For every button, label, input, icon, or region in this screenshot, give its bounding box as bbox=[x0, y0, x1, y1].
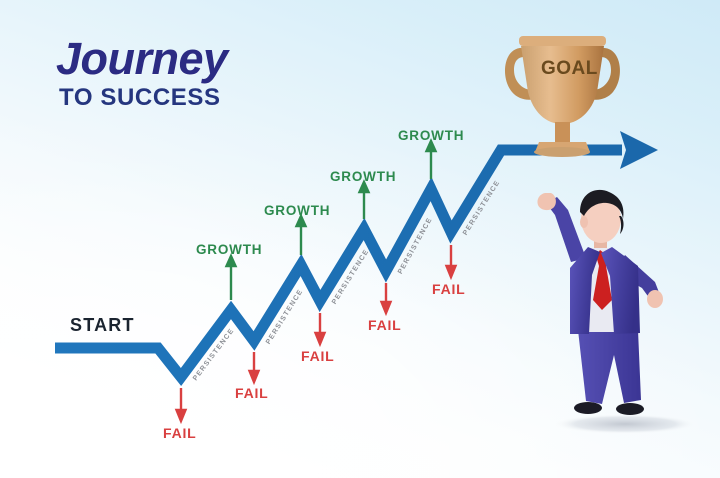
fail-label-1: FAIL bbox=[163, 425, 197, 441]
fail-label-3: FAIL bbox=[301, 348, 335, 364]
ear bbox=[580, 216, 588, 228]
shoe-left bbox=[574, 402, 602, 414]
growth-label-3: GROWTH bbox=[330, 169, 396, 184]
page-subtitle: TO SUCCESS bbox=[59, 84, 221, 112]
infographic-canvas: GOAL bbox=[0, 0, 720, 478]
growth-label-1: GROWTH bbox=[196, 242, 262, 257]
trousers bbox=[578, 330, 641, 404]
shoe-right bbox=[616, 403, 644, 415]
fail-label-5: FAIL bbox=[432, 281, 466, 297]
start-label: START bbox=[70, 315, 135, 336]
businessman-figure bbox=[537, 190, 697, 434]
fail-label-4: FAIL bbox=[368, 317, 402, 333]
fail-label-2: FAIL bbox=[235, 385, 269, 401]
growth-label-4: GROWTH bbox=[398, 128, 464, 143]
growth-label-2: GROWTH bbox=[264, 203, 330, 218]
figure-shadow bbox=[553, 414, 697, 434]
right-hand bbox=[647, 290, 663, 308]
raised-fist bbox=[537, 193, 555, 210]
page-title: Journey bbox=[56, 33, 228, 85]
